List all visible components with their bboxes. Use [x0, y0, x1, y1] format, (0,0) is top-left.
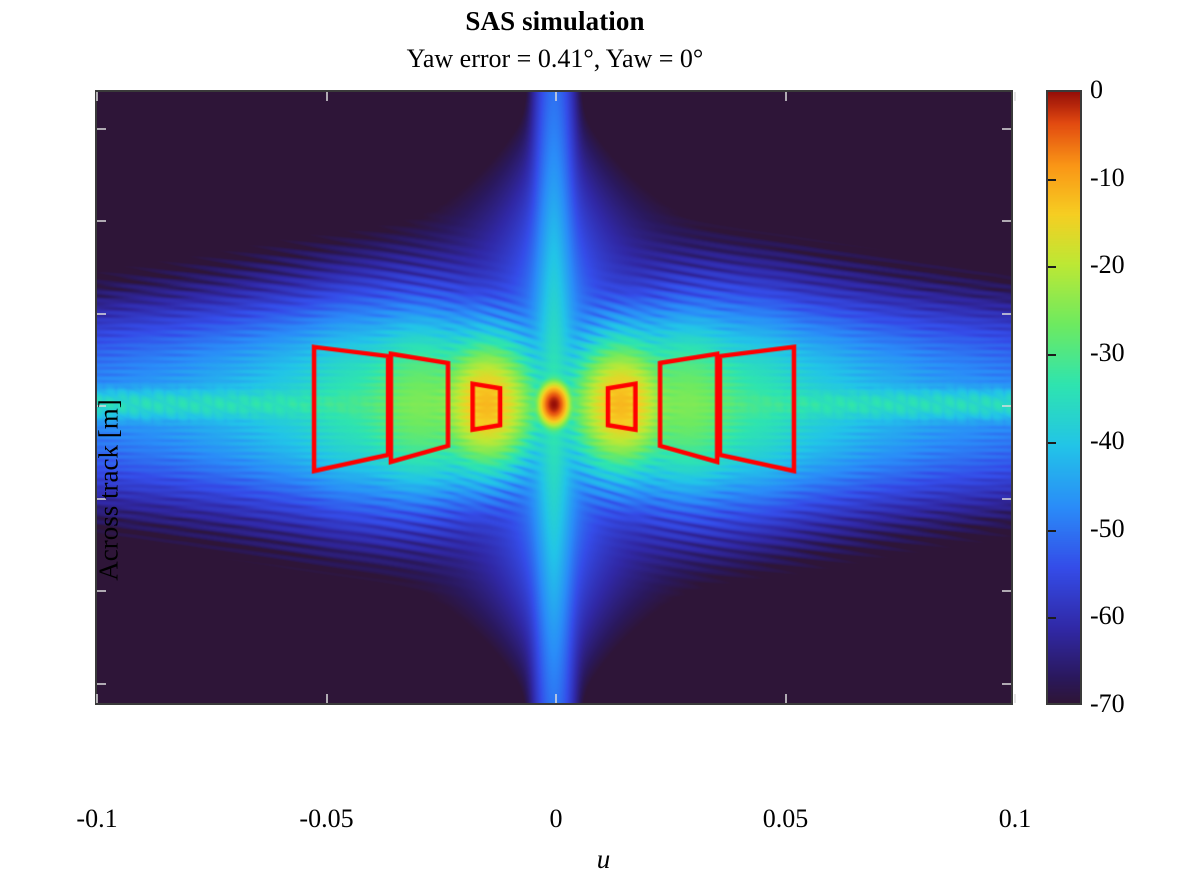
x-tick-mark — [1014, 694, 1016, 703]
x-tick-mark — [785, 92, 787, 101]
sas-simulation-figure: SAS simulation Yaw error = 0.41°, Yaw = … — [0, 0, 1200, 793]
y-tick-mark — [97, 128, 106, 130]
colorbar-tick-mark — [1048, 179, 1056, 181]
x-tick-label: -0.05 — [299, 804, 353, 834]
figure-title: SAS simulation — [0, 6, 1110, 37]
colorbar-tick-mark — [1048, 442, 1056, 444]
colorbar-tick-mark — [1048, 617, 1056, 619]
x-tick-label: 0.05 — [763, 804, 809, 834]
colorbar-tick-label: -20 — [1090, 250, 1125, 280]
colorbar-tick-label: 0 — [1090, 75, 1103, 105]
y-tick-mark — [1002, 590, 1011, 592]
colorbar-gradient — [1048, 92, 1080, 703]
x-tick-label: 0 — [550, 804, 563, 834]
x-tick-mark — [96, 92, 98, 101]
x-axis-label: u — [97, 844, 1110, 875]
x-tick-mark — [1014, 92, 1016, 101]
x-tick-mark — [326, 694, 328, 703]
y-axis-label: Across track [m] — [94, 230, 125, 750]
colorbar-tick-label: -30 — [1090, 338, 1125, 368]
y-tick-mark — [1002, 313, 1011, 315]
colorbar-tick-label: -40 — [1090, 426, 1125, 456]
annotation-boxes-overlay — [97, 92, 1011, 703]
plot-area[interactable]: Across track [m] u 64666870727476 -0.1-0… — [95, 90, 1013, 705]
colorbar[interactable] — [1046, 90, 1082, 705]
x-tick-mark — [326, 92, 328, 101]
y-tick-mark — [1002, 498, 1011, 500]
colorbar-tick-label: -60 — [1090, 601, 1125, 631]
y-tick-mark — [1002, 220, 1011, 222]
y-tick-mark — [1002, 405, 1011, 407]
colorbar-tick-mark — [1048, 266, 1056, 268]
colorbar-tick-label: -70 — [1090, 689, 1125, 719]
colorbar-tick-mark — [1048, 530, 1056, 532]
y-tick-mark — [97, 220, 106, 222]
x-tick-mark — [785, 694, 787, 703]
y-tick-mark — [1002, 128, 1011, 130]
x-tick-label: -0.1 — [76, 804, 117, 834]
x-tick-label: 0.1 — [999, 804, 1032, 834]
x-tick-mark — [555, 694, 557, 703]
y-tick-mark — [1002, 683, 1011, 685]
colorbar-tick-label: -50 — [1090, 514, 1125, 544]
colorbar-tick-label: -10 — [1090, 163, 1125, 193]
colorbar-tick-mark — [1048, 354, 1056, 356]
figure-subtitle: Yaw error = 0.41°, Yaw = 0° — [0, 44, 1110, 74]
x-tick-mark — [555, 92, 557, 101]
